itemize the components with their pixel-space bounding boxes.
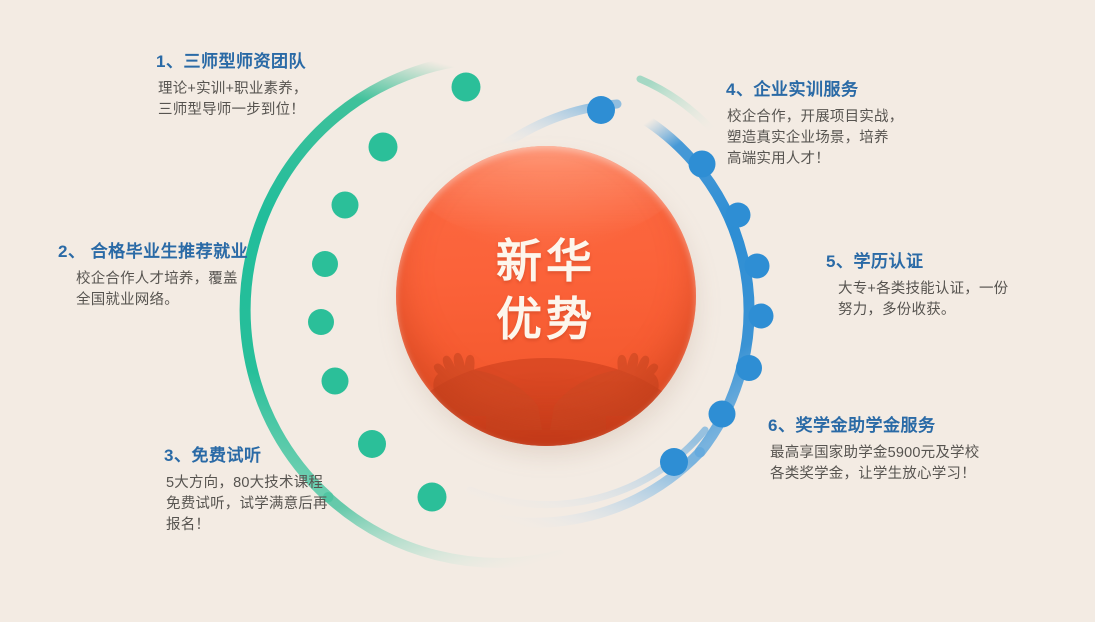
- ring-dot-green[interactable]: [308, 309, 334, 335]
- advantage-item-5[interactable]: 5、学历认证 大专+各类技能认证，一份 努力，多份收获。: [826, 250, 1008, 321]
- advantage-item-1[interactable]: 1、三师型师资团队 理论+实训+职业素养， 三师型导师一步到位！: [156, 50, 308, 121]
- ring-dot-green[interactable]: [322, 368, 349, 395]
- center-title-line2: 优势: [396, 290, 696, 348]
- orb-body: 新华 优势: [396, 146, 696, 446]
- ring-dot-blue[interactable]: [726, 203, 751, 228]
- advantage-item-3-body: 5大方向，80大技术课程 免费试听，试学满意后再 报名！: [164, 473, 328, 536]
- ring-dot-green[interactable]: [452, 73, 481, 102]
- blue-arc-fade: [500, 452, 700, 523]
- ring-dot-blue[interactable]: [736, 355, 762, 381]
- ring-dot-green[interactable]: [418, 483, 447, 512]
- advantage-item-4[interactable]: 4、企业实训服务 校企合作，开展项目实战， 塑造真实企业场景，培养 高端实用人才…: [726, 78, 903, 170]
- advantage-item-1-body: 理论+实训+职业素养， 三师型导师一步到位！: [156, 79, 308, 121]
- ring-dot-blue[interactable]: [745, 254, 770, 279]
- advantage-item-3-title: 3、免费试听: [164, 444, 328, 468]
- advantage-item-6[interactable]: 6、奖学金助学金服务 最高享国家助学金5900元及学校 各类奖学金，让学生放心学…: [768, 414, 979, 485]
- advantage-item-3[interactable]: 3、免费试听 5大方向，80大技术课程 免费试听，试学满意后再 报名！: [164, 444, 328, 536]
- advantage-item-5-title: 5、学历认证: [826, 250, 1008, 274]
- center-title-line1: 新华: [396, 232, 696, 290]
- center-orb[interactable]: 新华 优势: [396, 146, 702, 452]
- green-arc-ghost: [640, 79, 715, 133]
- advantage-item-2-title: 2、 合格毕业生推荐就业: [58, 240, 248, 264]
- ring-dot-green[interactable]: [369, 133, 398, 162]
- advantage-item-4-title: 4、企业实训服务: [726, 78, 903, 102]
- ring-dot-green[interactable]: [312, 251, 338, 277]
- advantage-item-2-body: 校企合作人才培养，覆盖 全国就业网络。: [58, 269, 248, 311]
- advantage-item-6-title: 6、奖学金助学金服务: [768, 414, 979, 438]
- ring-dot-blue[interactable]: [587, 96, 615, 124]
- ring-dot-blue[interactable]: [660, 448, 688, 476]
- advantage-item-6-body: 最高享国家助学金5900元及学校 各类奖学金，让学生放心学习！: [768, 443, 979, 485]
- ring-dot-blue[interactable]: [749, 304, 774, 329]
- blue-arc-head-fade: [500, 104, 617, 148]
- infographic-canvas: 新华 优势 1、三师型师资团队 理论+实训+职业素养， 三师型导师一步到位！ 2…: [0, 0, 1095, 622]
- green-arc-fade: [328, 497, 560, 563]
- ring-dot-green[interactable]: [358, 430, 386, 458]
- advantage-item-5-body: 大专+各类技能认证，一份 努力，多份收获。: [826, 279, 1008, 321]
- advantage-item-4-body: 校企合作，开展项目实战， 塑造真实企业场景，培养 高端实用人才！: [726, 107, 903, 170]
- advantage-item-1-title: 1、三师型师资团队: [156, 50, 308, 74]
- ring-dot-green[interactable]: [332, 192, 359, 219]
- ring-dot-blue[interactable]: [709, 401, 736, 428]
- center-title: 新华 优势: [396, 232, 696, 348]
- advantage-item-2[interactable]: 2、 合格毕业生推荐就业 校企合作人才培养，覆盖 全国就业网络。: [58, 240, 248, 311]
